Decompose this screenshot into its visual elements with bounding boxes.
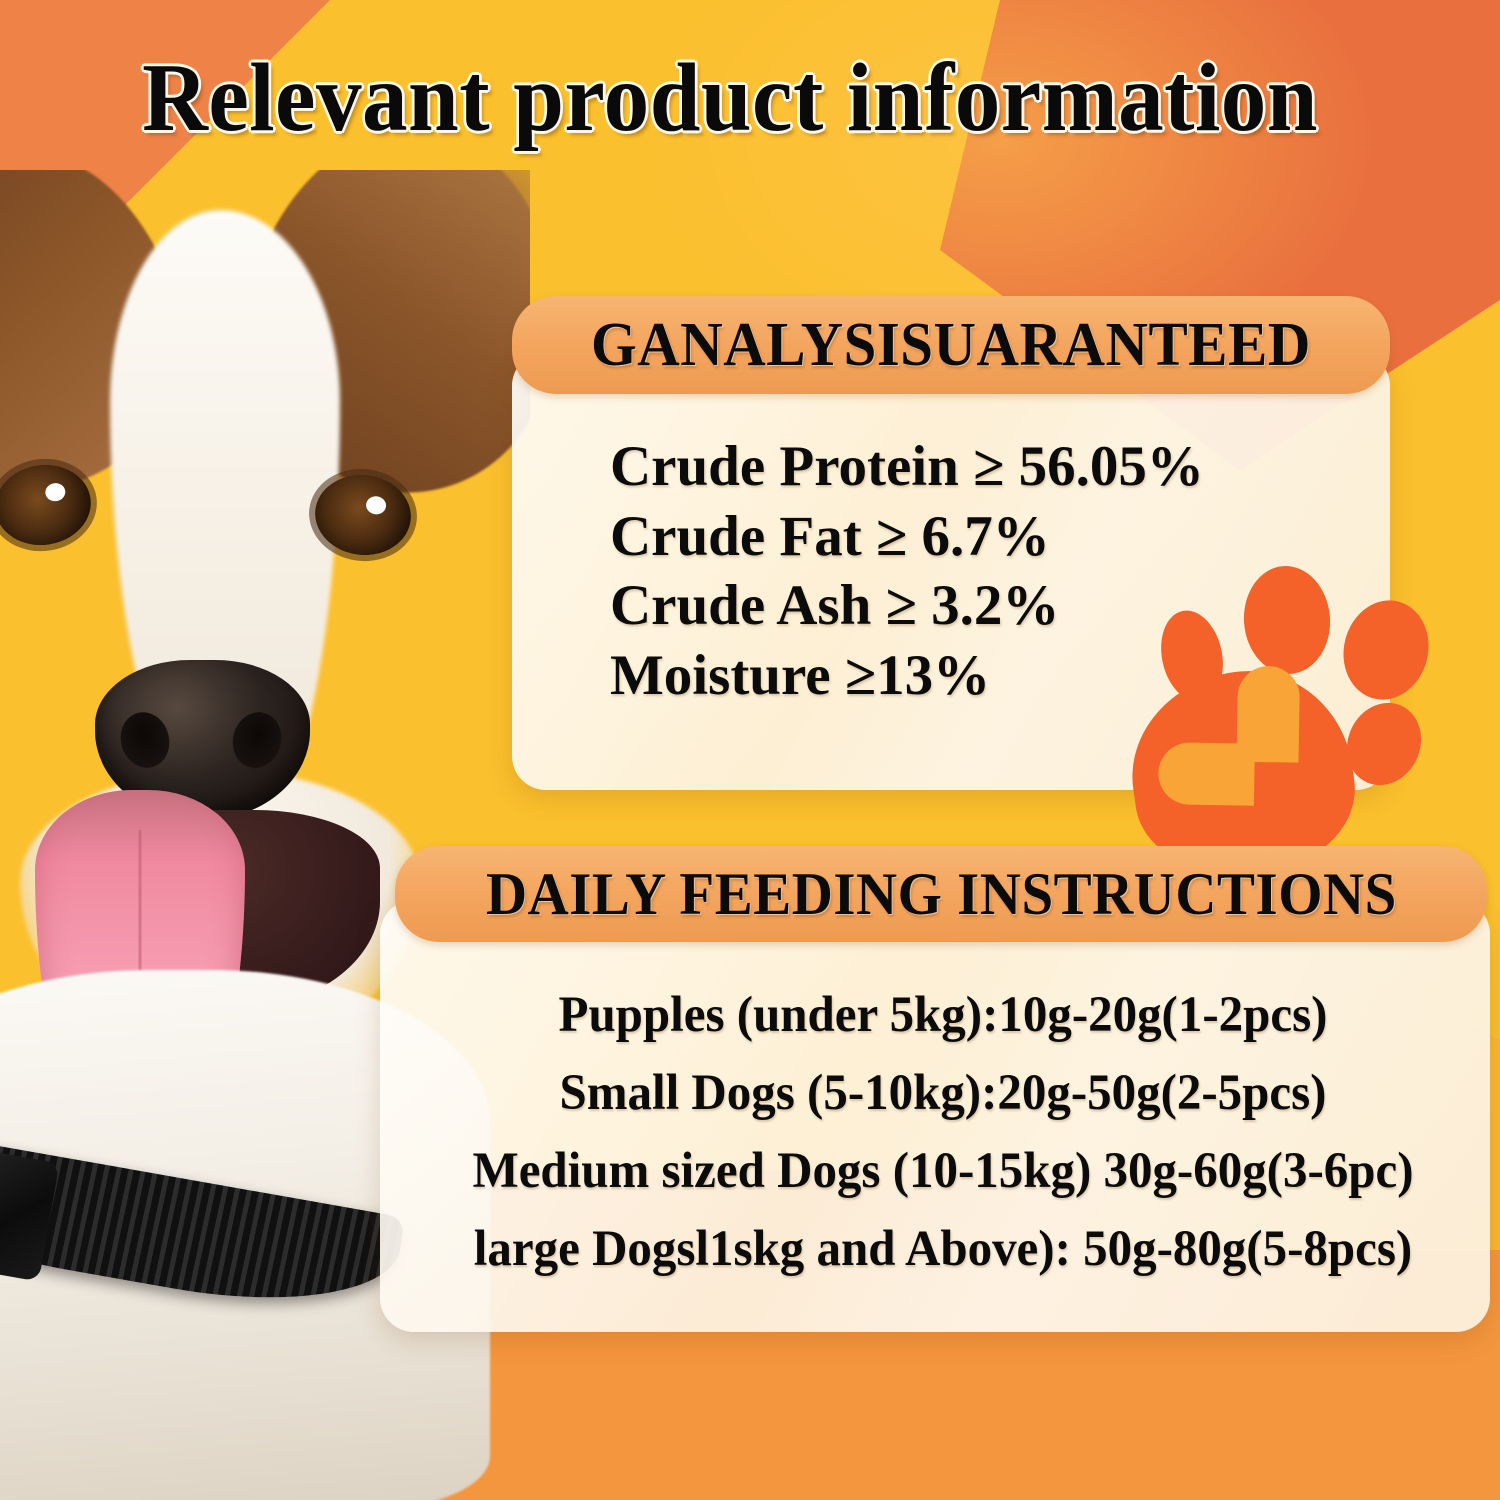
feeding-row: Pupples (under 5kg):10g-20g(1-2pcs) (420, 990, 1466, 1041)
feeding-header-label: DAILY FEEDING INSTRUCTIONS (486, 860, 1397, 929)
feeding-row: Medium sized Dogs (10-15kg) 30g-60g(3-6p… (420, 1146, 1466, 1197)
dog-eye-highlight (44, 482, 66, 503)
page-title: Relevant product information (51, 48, 1409, 150)
analysis-card-header: GANALYSISUARANTEED (512, 296, 1390, 394)
analysis-list: Crude Protein ≥ 56.05% Crude Fat ≥ 6.7% … (610, 432, 1330, 710)
feeding-row: large Dogsl1skg and Above): 50g-80g(5-8p… (420, 1224, 1466, 1275)
feeding-list: Pupples (under 5kg):10g-20g(1-2pcs) Smal… (398, 990, 1488, 1275)
analysis-header-label: GANALYSISUARANTEED (591, 310, 1311, 381)
feeding-card-header: DAILY FEEDING INSTRUCTIONS (395, 846, 1487, 942)
analysis-row: Moisture ≥13% (610, 641, 1330, 711)
paw-toe-3 (1333, 591, 1439, 708)
dog-nostril-left (114, 706, 176, 773)
analysis-row: Crude Fat ≥ 6.7% (610, 502, 1330, 572)
analysis-row: Crude Ash ≥ 3.2% (610, 571, 1330, 641)
product-information-poster: Relevant product information GANALYSISUA… (0, 0, 1500, 1500)
dog-eye-highlight (365, 495, 387, 515)
paw-heart-cutout (1153, 692, 1311, 850)
feeding-row: Small Dogs (5-10kg):20g-50g(2-5pcs) (420, 1068, 1466, 1119)
dog-nostril-right (226, 706, 288, 773)
analysis-row: Crude Protein ≥ 56.05% (610, 432, 1330, 502)
